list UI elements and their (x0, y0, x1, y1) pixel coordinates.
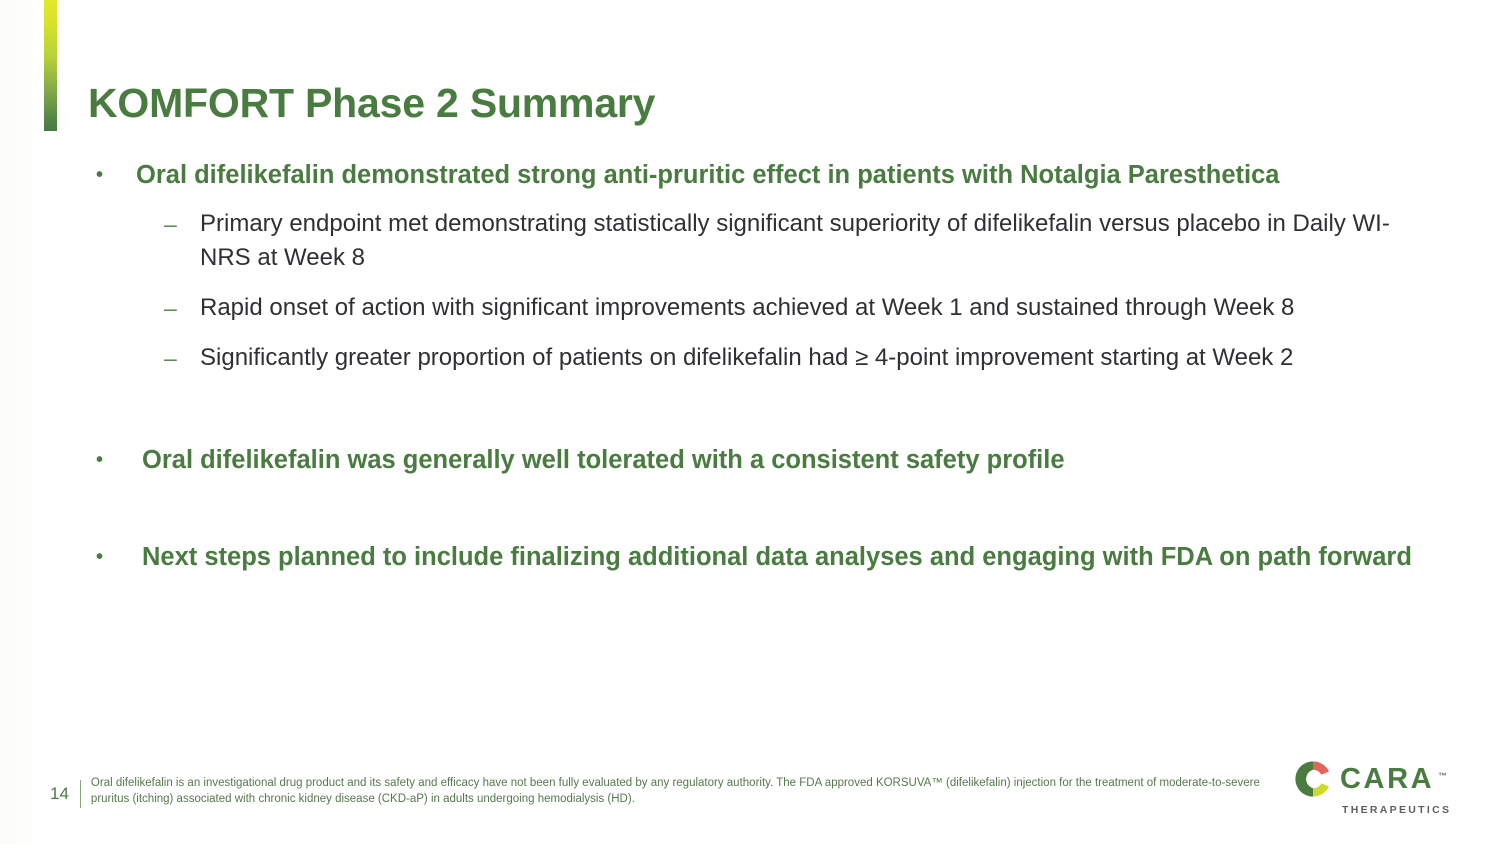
spacer (96, 375, 1416, 443)
page-number: 14 (50, 776, 69, 804)
bullet-text-3: Next steps planned to include finalizing… (142, 540, 1416, 575)
bullet-dot-icon: • (96, 443, 142, 478)
bullet-dot-icon: • (96, 540, 142, 575)
title-accent-bar (44, 0, 57, 131)
logo-wordmark-text: CARA (1340, 763, 1434, 795)
slide-canvas: KOMFORT Phase 2 Summary • Oral difelikef… (0, 0, 1500, 844)
cara-therapeutics-logo: CARA ™ THERAPEUTICS (1292, 758, 1451, 816)
bullet-dot-icon: • (96, 158, 136, 193)
sub-bullet-item-1-2: – Rapid onset of action with significant… (164, 291, 1416, 325)
footnote-text: Oral difelikefalin is an investigational… (91, 776, 1266, 807)
sub-bullet-list-1: – Primary endpoint met demonstrating sta… (96, 207, 1416, 375)
bullet-text-1: Oral difelikefalin demonstrated strong a… (136, 158, 1416, 193)
slide-body: • Oral difelikefalin demonstrated strong… (96, 158, 1416, 575)
logo-tagline: THERAPEUTICS (1342, 804, 1451, 816)
dash-marker-icon: – (164, 207, 200, 241)
page-title: KOMFORT Phase 2 Summary (88, 80, 655, 127)
bullet-text-2: Oral difelikefalin was generally well to… (142, 443, 1416, 478)
sub-bullet-text-1-2: Rapid onset of action with significant i… (200, 291, 1416, 325)
footer-divider (80, 780, 81, 808)
spacer (96, 478, 1416, 540)
cara-c-mark-icon (1292, 758, 1334, 800)
slide-footer: 14 Oral difelikefalin is an investigatio… (50, 776, 1266, 808)
bullet-item-3: • Next steps planned to include finalizi… (96, 540, 1416, 575)
sub-bullet-text-1-1: Primary endpoint met demonstrating stati… (200, 207, 1416, 275)
bullet-item-2: • Oral difelikefalin was generally well … (96, 443, 1416, 478)
dash-marker-icon: – (164, 341, 200, 375)
trademark-icon: ™ (1438, 761, 1447, 791)
dash-marker-icon: – (164, 291, 200, 325)
sub-bullet-item-1-3: – Significantly greater proportion of pa… (164, 341, 1416, 375)
sub-bullet-text-1-3: Significantly greater proportion of pati… (200, 341, 1416, 375)
logo-row: CARA ™ (1292, 758, 1434, 800)
logo-wordmark: CARA ™ (1340, 764, 1434, 794)
background-edge-wash (0, 0, 46, 844)
sub-bullet-item-1-1: – Primary endpoint met demonstrating sta… (164, 207, 1416, 275)
bullet-item-1: • Oral difelikefalin demonstrated strong… (96, 158, 1416, 193)
